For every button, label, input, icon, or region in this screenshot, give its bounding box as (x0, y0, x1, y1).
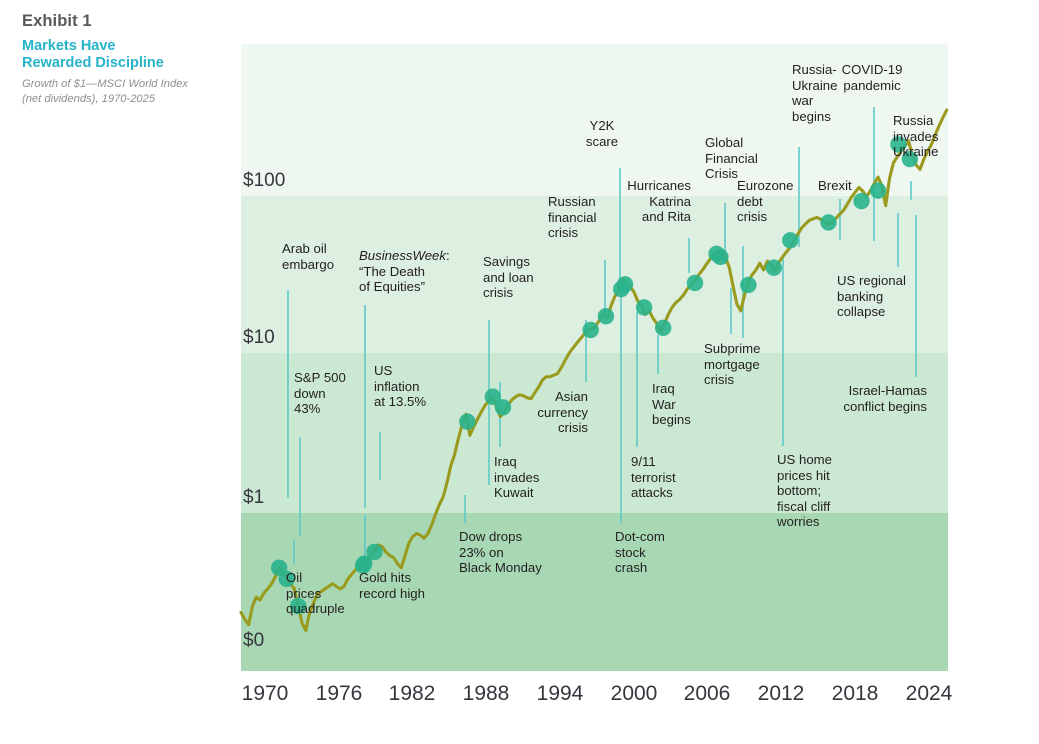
event-marker-dot[interactable] (766, 259, 782, 275)
annotation-nine-eleven-attacks: 9/11 terrorist attacks (631, 454, 676, 501)
y-axis-tick-label: $10 (243, 327, 275, 349)
x-axis-tick-label: 2012 (758, 682, 805, 706)
annotation-hurricanes-katrina-rita: Hurricanes Katrina and Rita (0, 178, 691, 225)
event-marker-dot[interactable] (598, 308, 614, 324)
chart-headline: Markets Have Rewarded Discipline (22, 38, 187, 72)
x-axis-tick-label: 2024 (906, 682, 953, 706)
page-title: Exhibit 1 (22, 12, 222, 31)
annotation-us-home-prices-fiscal-cliff: US home prices hit bottom; fiscal cliff … (777, 452, 832, 530)
event-marker-dot[interactable] (655, 320, 671, 336)
annotation-eurozone-debt-crisis: Eurozone debt crisis (737, 178, 793, 225)
annotation-israel-hamas-conflict: Israel-Hamas conflict begins (0, 383, 927, 414)
event-marker-dot[interactable] (782, 232, 798, 248)
x-axis-tick-label: 2000 (611, 682, 658, 706)
y-axis-tick-label: $1 (243, 487, 264, 509)
annotation-businessweek-death-equities: BusinessWeek:“The Deathof Equities” (359, 248, 450, 295)
x-axis-tick-label: 1982 (389, 682, 436, 706)
annotation-russia-invades-ukraine: Russia invades Ukraine (893, 113, 938, 160)
x-axis-tick-label: 1988 (463, 682, 510, 706)
x-axis-tick-label: 2018 (832, 682, 879, 706)
chart-page: Exhibit 1 Markets Have Rewarded Discipli… (0, 0, 1039, 744)
chart-subhead: Growth of $1—MSCI World Index (net divid… (22, 77, 202, 106)
event-marker-dot[interactable] (712, 249, 728, 265)
annotation-covid-19-pandemic: COVID-19 pandemic (812, 62, 932, 93)
annotation-oil-prices-quadruple: Oil prices quadruple (286, 570, 345, 617)
event-marker-dot[interactable] (820, 214, 836, 230)
x-axis-tick-label: 1976 (316, 682, 363, 706)
x-axis-tick-label: 2006 (684, 682, 731, 706)
exhibit-header: Exhibit 1 Markets Have Rewarded Discipli… (22, 12, 222, 106)
annotation-gold-hits-record-high: Gold hits record high (359, 570, 425, 601)
annotation-global-financial-crisis: Global Financial Crisis (705, 135, 758, 182)
event-marker-dot[interactable] (366, 544, 382, 560)
annotation-dow-drops-black-monday: Dow drops 23% on Black Monday (459, 529, 542, 576)
annotation-subprime-mortgage-crisis: Subprime mortgage crisis (704, 341, 760, 388)
x-axis-tick-label: 1970 (242, 682, 289, 706)
y-axis-tick-label: $0 (243, 630, 264, 652)
event-marker-dot[interactable] (853, 193, 869, 209)
annotation-us-regional-banking-collapse: US regional banking collapse (837, 273, 906, 320)
event-marker-dot[interactable] (636, 299, 652, 315)
annotation-dot-com-stock-crash: Dot-com stock crash (615, 529, 665, 576)
annotation-arab-oil-embargo: Arab oil embargo (282, 241, 334, 272)
event-marker-dot[interactable] (740, 277, 756, 293)
event-marker-dot[interactable] (617, 276, 633, 292)
annotation-iraq-invades-kuwait: Iraq invades Kuwait (494, 454, 539, 501)
annotation-savings-loan-crisis: Savings and loan crisis (483, 254, 534, 301)
event-marker-dot[interactable] (870, 182, 886, 198)
event-marker-dot[interactable] (687, 275, 703, 291)
annotation-brexit: Brexit (818, 178, 852, 194)
event-marker-dot[interactable] (582, 322, 598, 338)
annotation-y2k-scare: Y2K scare (542, 118, 662, 149)
x-axis-tick-label: 1994 (537, 682, 584, 706)
